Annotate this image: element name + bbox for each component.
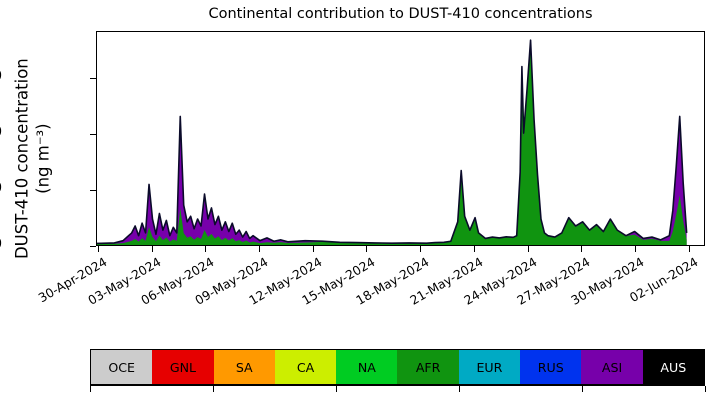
y-axis-label: DUST-410 concentration (ng m⁻³)	[12, 44, 53, 274]
x-tick-mark	[474, 246, 475, 252]
x-tick-mark	[528, 246, 529, 252]
y-axis-label-line1: DUST-410 concentration	[12, 58, 31, 259]
y-tick-label: 0	[0, 237, 2, 252]
figure-canvas: Continental contribution to DUST-410 con…	[0, 0, 721, 402]
x-tick-mark	[98, 246, 99, 252]
x-tick-mark	[366, 246, 367, 252]
colorbar-tick	[459, 386, 460, 392]
colorbar-segment-eur[interactable]: EUR	[459, 350, 520, 384]
colorbar-segment-aus[interactable]: AUS	[643, 350, 704, 384]
y-tick-label: 40	[0, 125, 2, 140]
colorbar-segment-sa[interactable]: SA	[214, 350, 275, 384]
colorbar-segment-ca[interactable]: CA	[275, 350, 336, 384]
x-tick-mark	[635, 246, 636, 252]
colorbar-segment-rus[interactable]: RUS	[520, 350, 581, 384]
colorbar-segment-asi[interactable]: ASI	[581, 350, 642, 384]
colorbar-tick	[90, 386, 91, 392]
y-axis-label-line2: (ng m⁻³)	[33, 44, 54, 274]
y-tick-label: 60	[0, 69, 2, 84]
colorbar-tick	[213, 386, 214, 392]
colorbar-segment-gnl[interactable]: GNL	[152, 350, 213, 384]
plot-area	[96, 31, 705, 246]
colorbar-tick	[336, 386, 337, 392]
x-tick-mark	[152, 246, 153, 252]
x-tick-mark	[313, 246, 314, 252]
x-tick-label: 06-May-2024	[123, 254, 217, 317]
colorbar-tick	[705, 386, 706, 392]
x-tick-label: 27-May-2024	[499, 254, 593, 317]
x-tick-mark	[259, 246, 260, 252]
colorbar-axis	[90, 385, 705, 399]
y-tick-label: 20	[0, 181, 2, 196]
chart-title: Continental contribution to DUST-410 con…	[96, 6, 705, 22]
stacked-area-plot	[97, 32, 704, 245]
total-outline	[97, 40, 687, 243]
y-tick-mark	[90, 246, 96, 247]
continent-colorbar-legend[interactable]: OCEGNLSACANAAFREURRUSASIAUS	[90, 349, 705, 385]
x-tick-mark	[581, 246, 582, 252]
x-tick-mark	[205, 246, 206, 252]
colorbar-tick	[582, 386, 583, 392]
x-tick-mark	[420, 246, 421, 252]
colorbar-segment-afr[interactable]: AFR	[397, 350, 458, 384]
colorbar-segment-na[interactable]: NA	[336, 350, 397, 384]
colorbar-segment-oce[interactable]: OCE	[91, 350, 152, 384]
x-tick-mark	[689, 246, 690, 252]
